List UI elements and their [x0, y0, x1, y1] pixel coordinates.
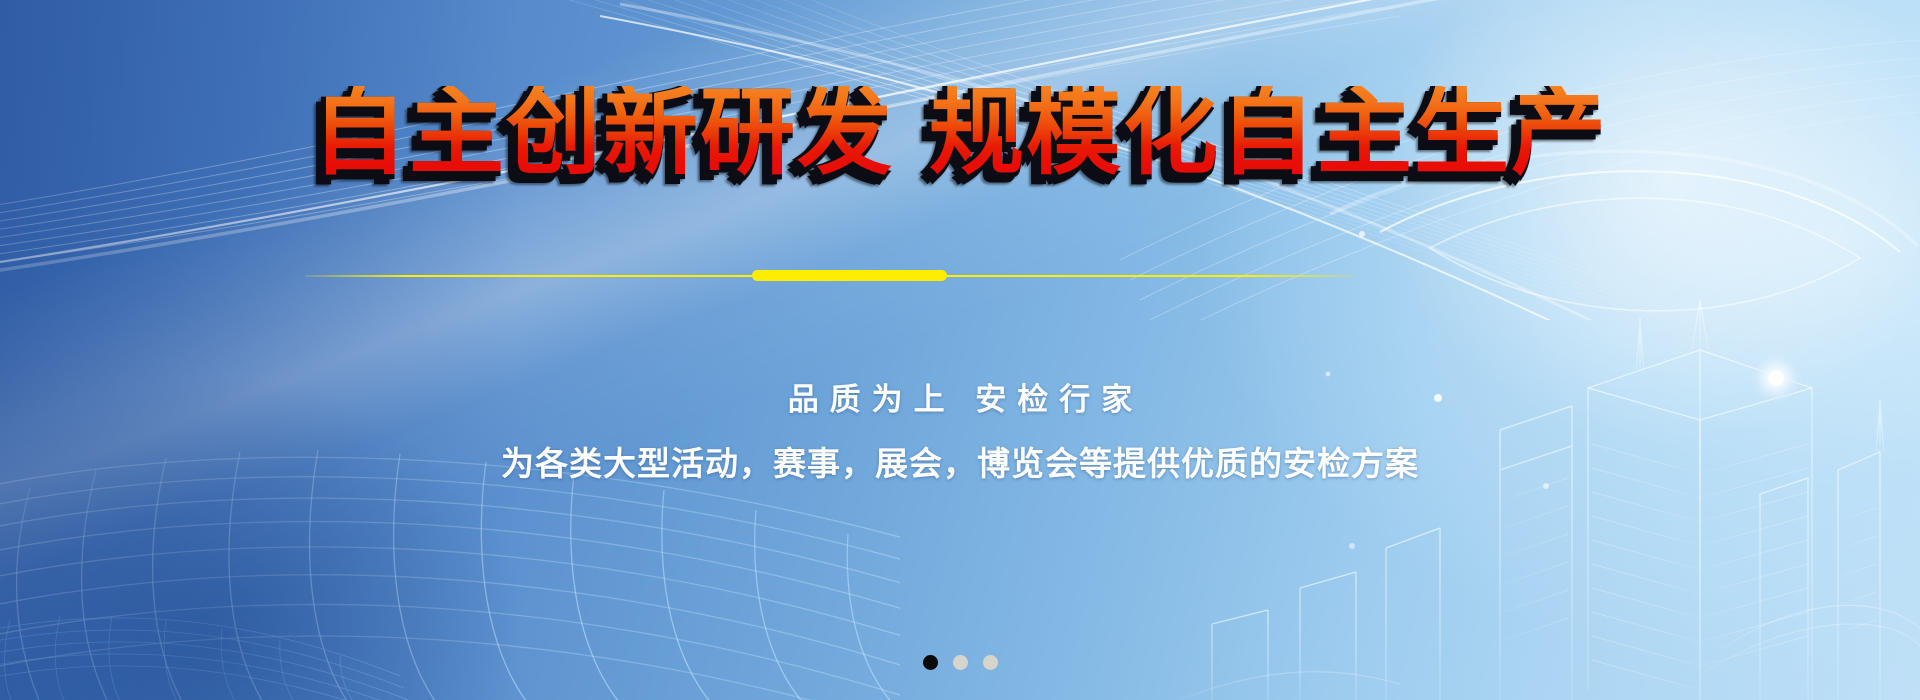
carousel-dot-3[interactable]	[983, 655, 998, 670]
banner-main-title: 自主创新研发 规模化自主生产	[312, 86, 1608, 181]
banner-subtitle-secondary: 为各类大型活动，赛事，展会，博览会等提供优质的安检方案	[0, 437, 1920, 485]
yellow-divider-line	[0, 268, 1920, 284]
carousel-dot-1[interactable]	[923, 655, 938, 670]
banner-subtitle-primary: 品质为上 安检行家	[0, 374, 1920, 419]
hero-banner-slide[interactable]: 自主创新研发 规模化自主生产 品质为上 安检行家 为各类大型活动，赛事，展会，博…	[0, 0, 1920, 700]
carousel-dot-2[interactable]	[953, 655, 968, 670]
banner-title-container: 自主创新研发 规模化自主生产	[0, 86, 1920, 181]
divider-thick-segment	[752, 270, 947, 281]
carousel-pagination-dots[interactable]	[0, 655, 1920, 670]
